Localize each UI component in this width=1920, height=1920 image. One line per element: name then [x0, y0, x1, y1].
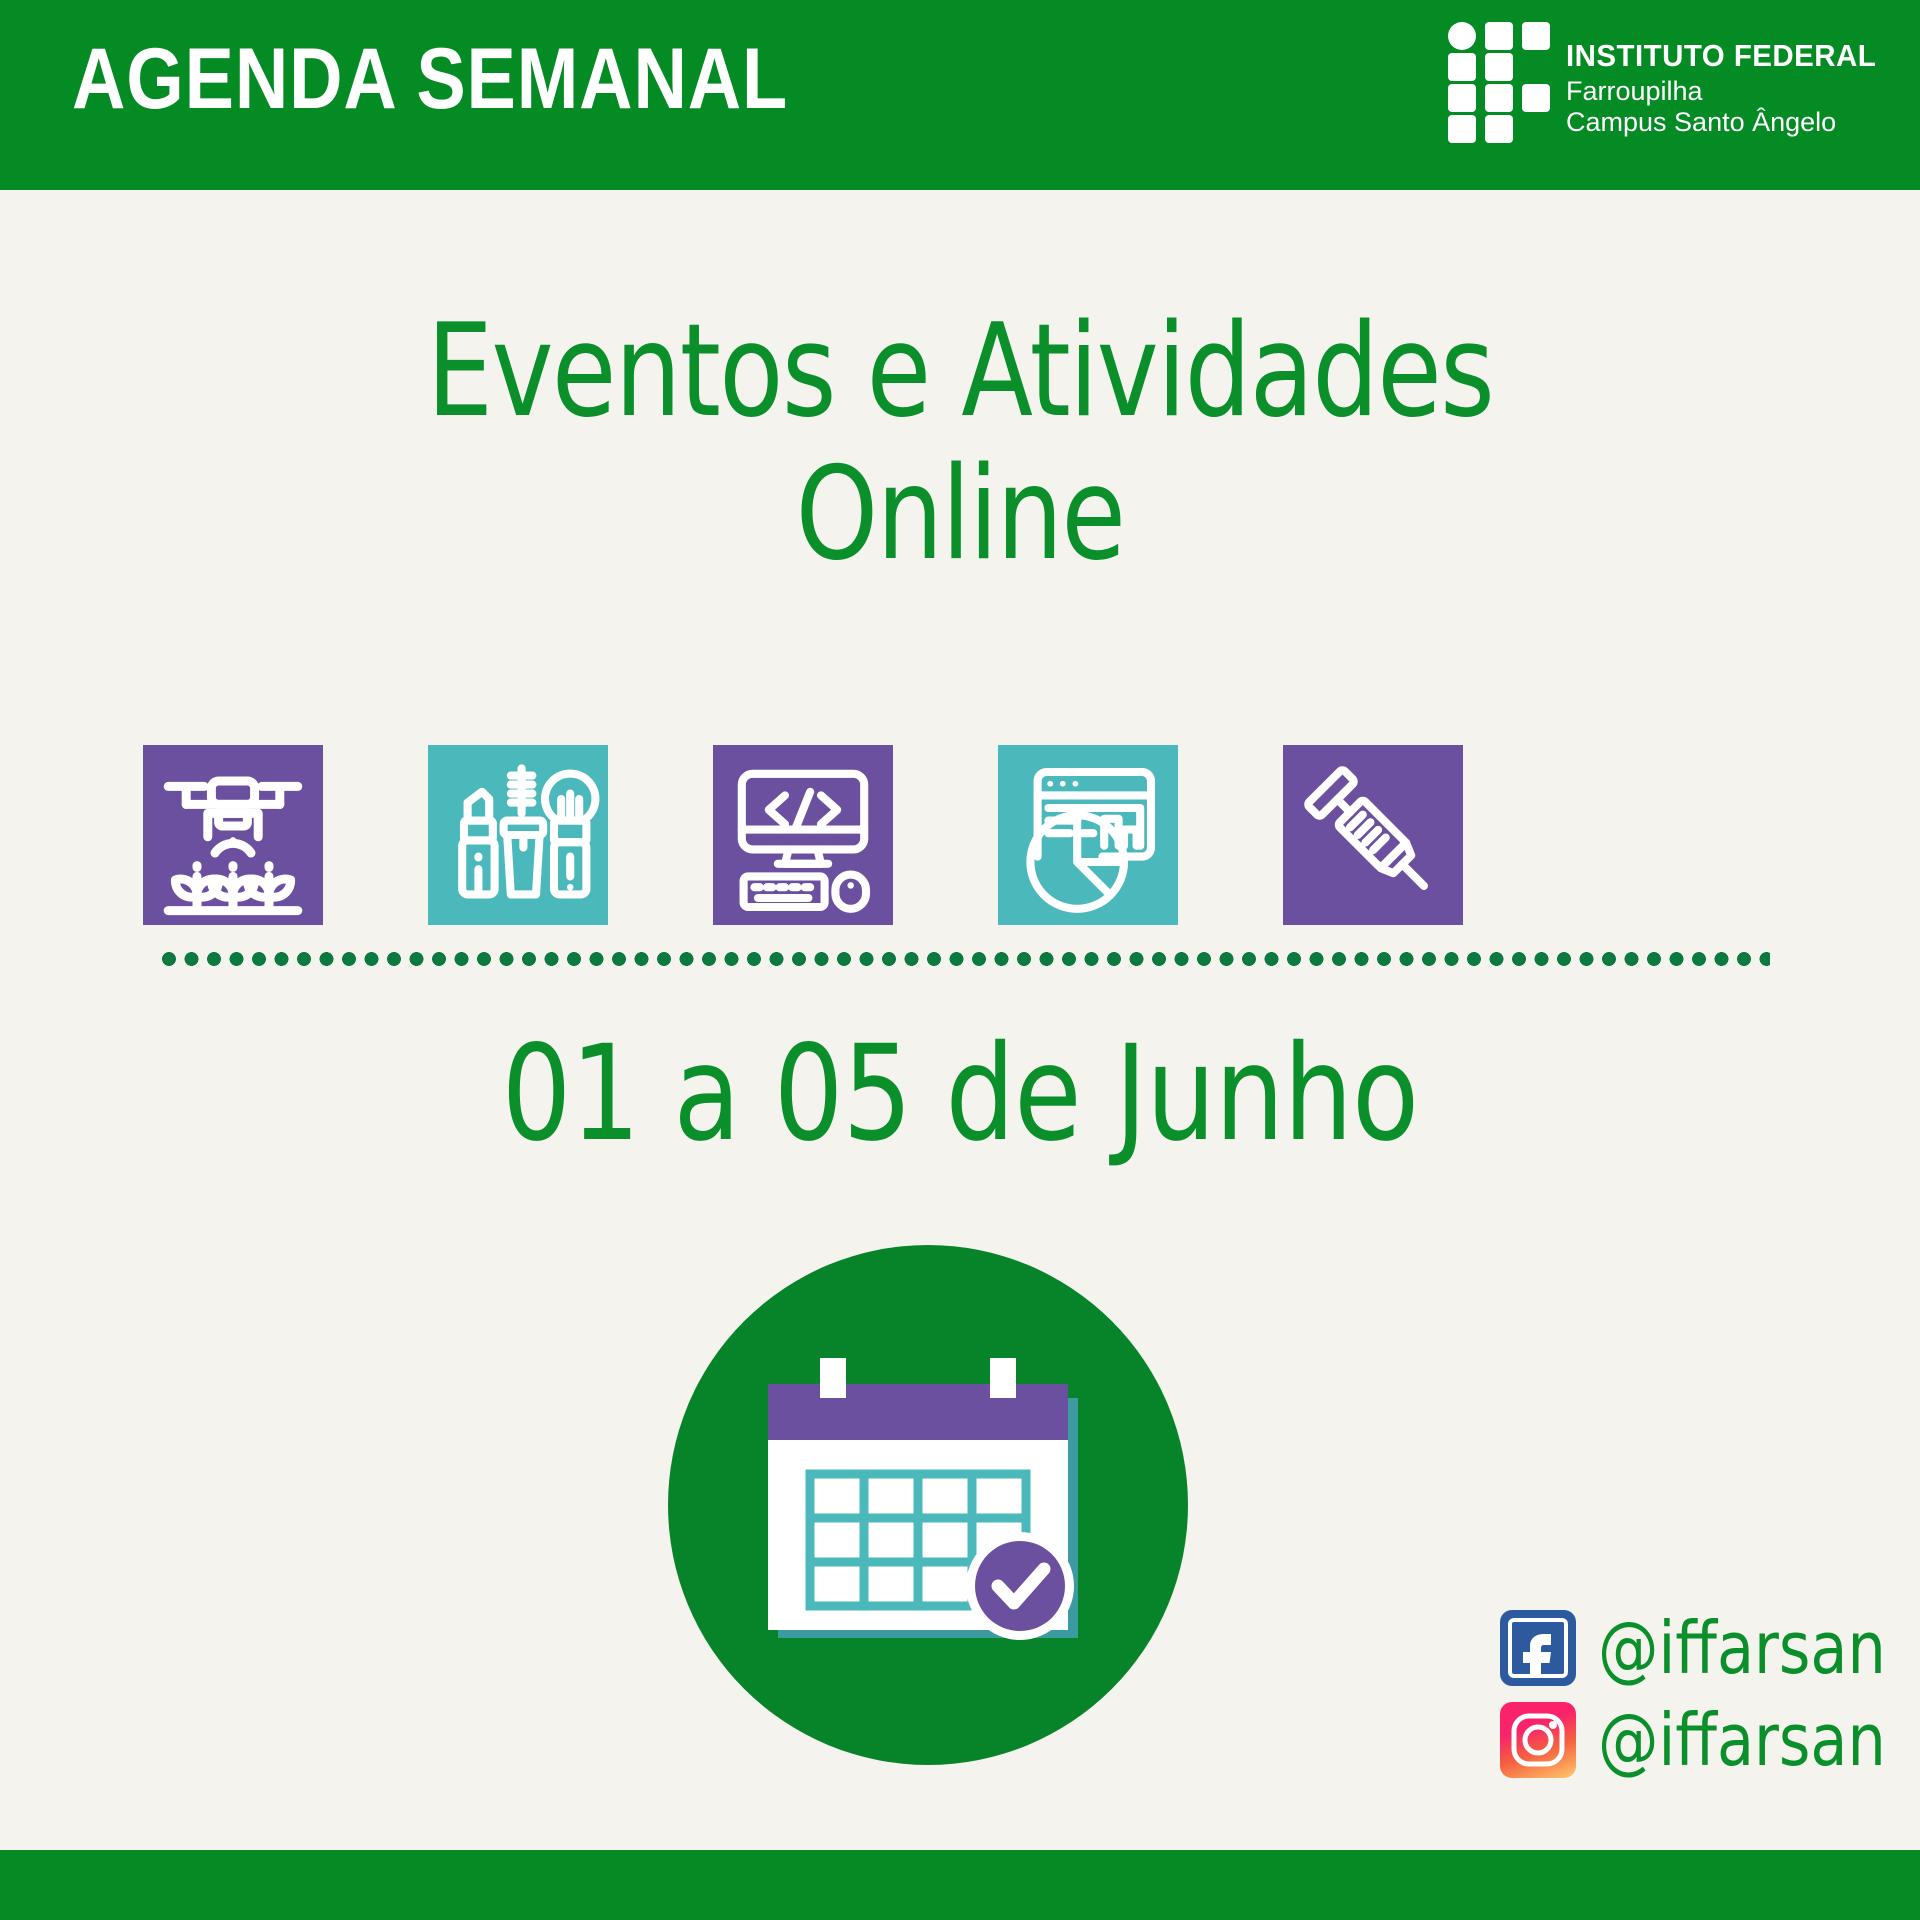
logo-wordmark: INSTITUTO FEDERAL Farroupilha Campus San… [1566, 22, 1893, 138]
poster-root: AGENDA SEMANAL INSTITUTO FEDERAL [0, 0, 1920, 1920]
social-item-facebook[interactable]: @iffarsan [1500, 1610, 1920, 1686]
headline-line-1: Eventos e Atividades [427, 297, 1493, 446]
social-links: @iffarsan @iffarsan [1500, 1610, 1920, 1794]
logo-unit-name: Farroupilha [1566, 76, 1893, 107]
facebook-handle[interactable]: @iffarsan [1598, 1612, 1886, 1684]
social-item-instagram[interactable]: @iffarsan [1500, 1702, 1920, 1778]
page-title: AGENDA SEMANAL [72, 30, 788, 129]
agriculture-drone-icon [143, 745, 323, 925]
instagram-handle[interactable]: @iffarsan [1598, 1704, 1886, 1776]
topic-icon-row [0, 745, 1920, 925]
cosmetics-makeup-icon [428, 745, 608, 925]
if-logo-grid-icon [1448, 22, 1552, 140]
date-range: 01 a 05 de Junho [163, 1028, 1757, 1160]
instituto-federal-logo: INSTITUTO FEDERAL Farroupilha Campus San… [1448, 22, 1893, 140]
dotted-divider [160, 950, 1770, 968]
logo-campus-name: Campus Santo Ângelo [1566, 107, 1893, 138]
headline-line-2: Online [173, 443, 1747, 586]
data-analytics-icon [998, 745, 1178, 925]
footer-bar [0, 1850, 1920, 1920]
instagram-icon[interactable] [1500, 1702, 1576, 1778]
logo-institution-name: INSTITUTO FEDERAL [1566, 40, 1876, 71]
programming-computer-icon [713, 745, 893, 925]
calendar-check-illustration [668, 1245, 1208, 1785]
syringe-vaccine-icon [1283, 745, 1463, 925]
facebook-icon[interactable] [1500, 1610, 1576, 1686]
headline: Eventos e Atividades Online [173, 300, 1747, 587]
calendar-icon [758, 1350, 1108, 1660]
header-bar: AGENDA SEMANAL INSTITUTO FEDERAL [0, 0, 1920, 190]
